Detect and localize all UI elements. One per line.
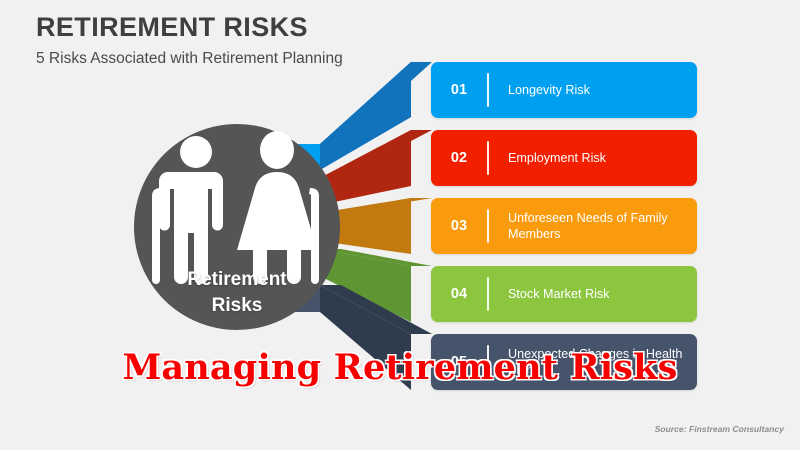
risk-label-03: Unforeseen Needs of Family Members bbox=[489, 210, 697, 243]
risk-bar-01[interactable]: 01 Longevity Risk bbox=[431, 62, 697, 118]
risk-label-04: Stock Market Risk bbox=[489, 286, 697, 303]
risk-bar-02[interactable]: 02 Employment Risk bbox=[431, 130, 697, 186]
risk-bar-04[interactable]: 04 Stock Market Risk bbox=[431, 266, 697, 322]
risk-bar-03[interactable]: 03 Unforeseen Needs of Family Members bbox=[431, 198, 697, 254]
risk-number-03: 03 bbox=[431, 218, 487, 234]
risk-number-01: 01 bbox=[431, 82, 487, 98]
risk-number-04: 04 bbox=[431, 286, 487, 302]
source-note: Source: Finstream Consultancy bbox=[655, 424, 784, 434]
overlay-title: Managing Retirement Risks bbox=[0, 347, 800, 388]
slide-canvas: RETIREMENT RISKS 5 Risks Associated with… bbox=[0, 0, 800, 450]
risk-label-01: Longevity Risk bbox=[489, 82, 697, 99]
risk-number-02: 02 bbox=[431, 150, 487, 166]
risk-label-02: Employment Risk bbox=[489, 150, 697, 167]
